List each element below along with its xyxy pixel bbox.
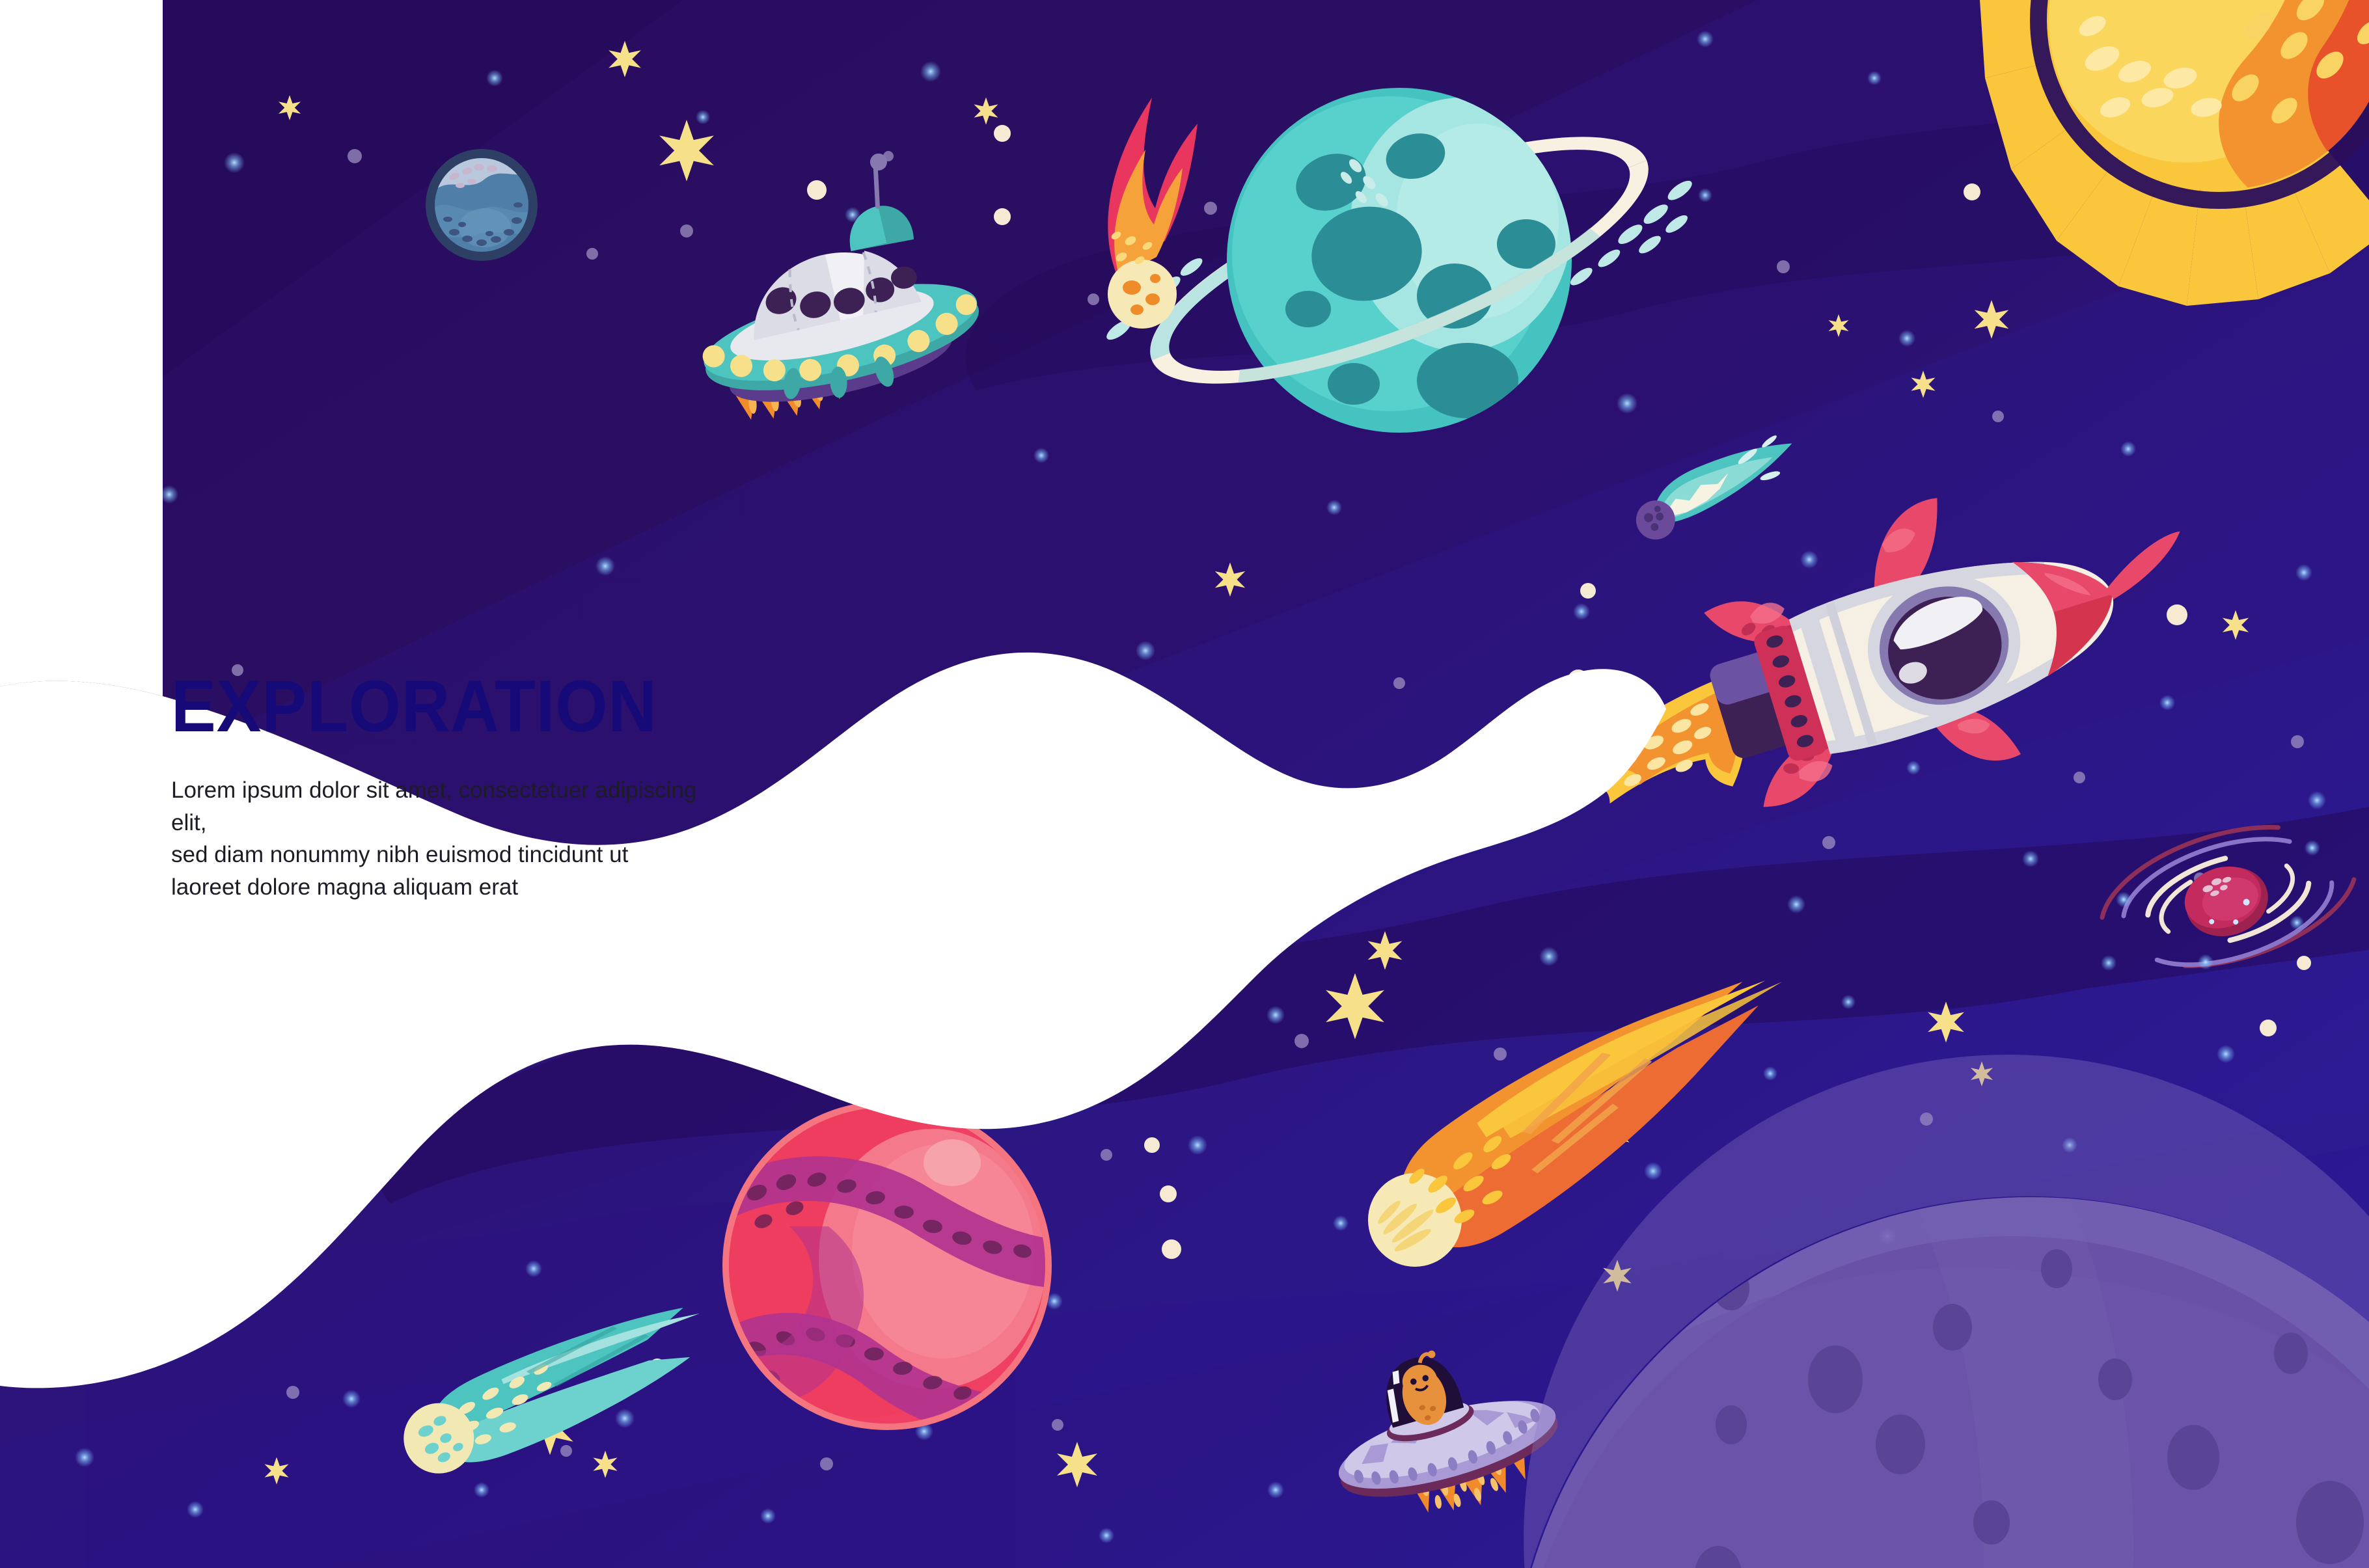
page-title: EXPLORATION bbox=[171, 670, 770, 743]
body-line-3: laoreet dolore magna aliquam erat bbox=[171, 871, 718, 904]
hero-body-copy: Lorem ipsum dolor sit amet, consectetuer… bbox=[171, 774, 718, 904]
space-exploration-banner: EXPLORATION Lorem ipsum dolor sit amet, … bbox=[0, 0, 2369, 1568]
hero-text-block: EXPLORATION Lorem ipsum dolor sit amet, … bbox=[171, 670, 822, 904]
body-line-2: sed diam nonummy nibh euismod tincidunt … bbox=[171, 839, 718, 871]
body-line-1: Lorem ipsum dolor sit amet, consectetuer… bbox=[171, 774, 718, 839]
